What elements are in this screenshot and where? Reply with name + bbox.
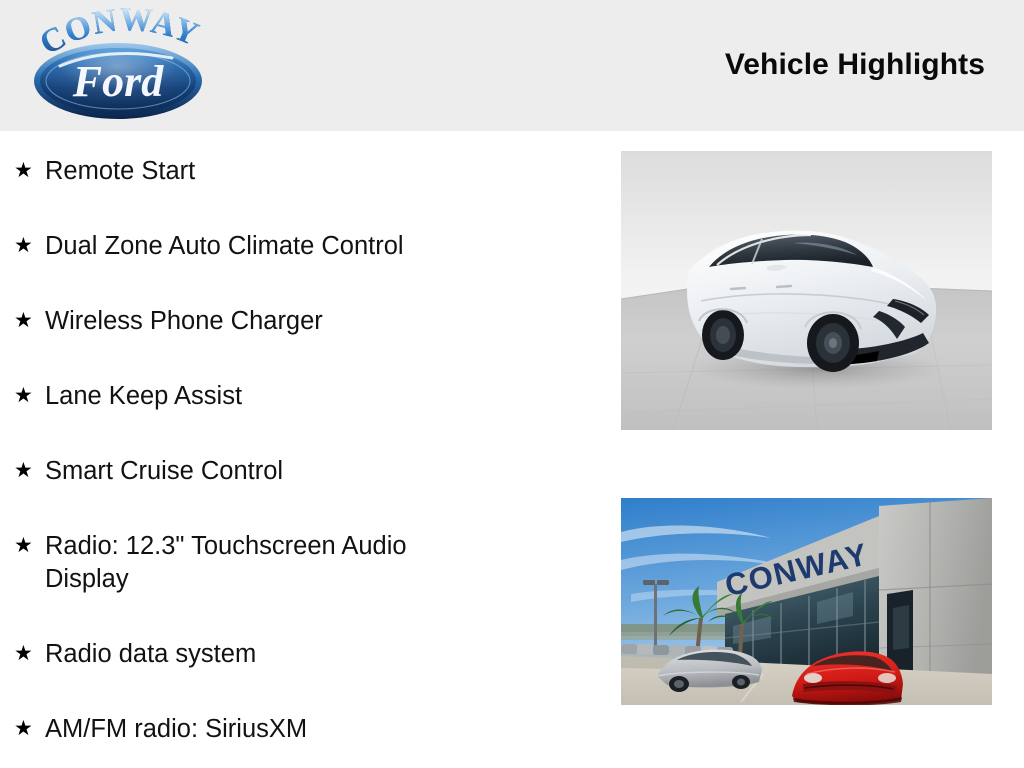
front-wheel — [807, 314, 859, 372]
list-item: ★ Smart Cruise Control — [0, 431, 600, 506]
feature-label: Radio: 12.3" Touchscreen Audio Display — [45, 506, 477, 596]
star-bullet-icon: ★ — [14, 689, 45, 739]
star-bullet-icon: ★ — [14, 614, 45, 664]
feature-label: Smart Cruise Control — [45, 431, 477, 488]
vehicle-photo-graphic — [621, 151, 992, 430]
conway-ford-logo-graphic: Ford CONWAY CONWAY — [22, 8, 218, 124]
list-item: ★ Lane Keep Assist — [0, 356, 600, 431]
ford-script-text: Ford — [72, 57, 164, 106]
feature-label: Wireless Phone Charger — [45, 281, 477, 338]
dealership-photo-graphic: CONWAY — [621, 498, 992, 705]
feature-label: Dual Zone Auto Climate Control — [45, 206, 477, 263]
feature-label: Lane Keep Assist — [45, 356, 477, 413]
star-bullet-icon: ★ — [14, 131, 45, 181]
star-bullet-icon: ★ — [14, 281, 45, 331]
star-bullet-icon: ★ — [14, 431, 45, 481]
rear-wheel — [702, 310, 744, 360]
media-column: CONWAY — [621, 0, 993, 768]
conway-ford-logo[interactable]: Ford CONWAY CONWAY — [22, 8, 218, 124]
star-bullet-icon: ★ — [14, 356, 45, 406]
star-bullet-icon: ★ — [14, 206, 45, 256]
dealership-storefront-photo[interactable]: CONWAY — [621, 498, 992, 705]
list-item: ★ Wireless Phone Charger — [0, 281, 600, 356]
feature-label: Radio data system — [45, 614, 477, 671]
vehicle-exterior-photo[interactable] — [621, 151, 992, 430]
list-item: ★ Radio: 12.3" Touchscreen Audio Display — [0, 506, 600, 614]
list-item: ★ AM/FM radio: SiriusXM — [0, 689, 600, 764]
vehicle-highlights-list: ★ Remote Start ★ Dual Zone Auto Climate … — [0, 131, 600, 764]
list-item: ★ Dual Zone Auto Climate Control — [0, 206, 600, 281]
list-item: ★ Radio data system — [0, 614, 600, 689]
feature-label: AM/FM radio: SiriusXM — [45, 689, 477, 746]
feature-label: Remote Start — [45, 131, 477, 188]
star-bullet-icon: ★ — [14, 506, 45, 556]
list-item: ★ Remote Start — [0, 131, 600, 206]
